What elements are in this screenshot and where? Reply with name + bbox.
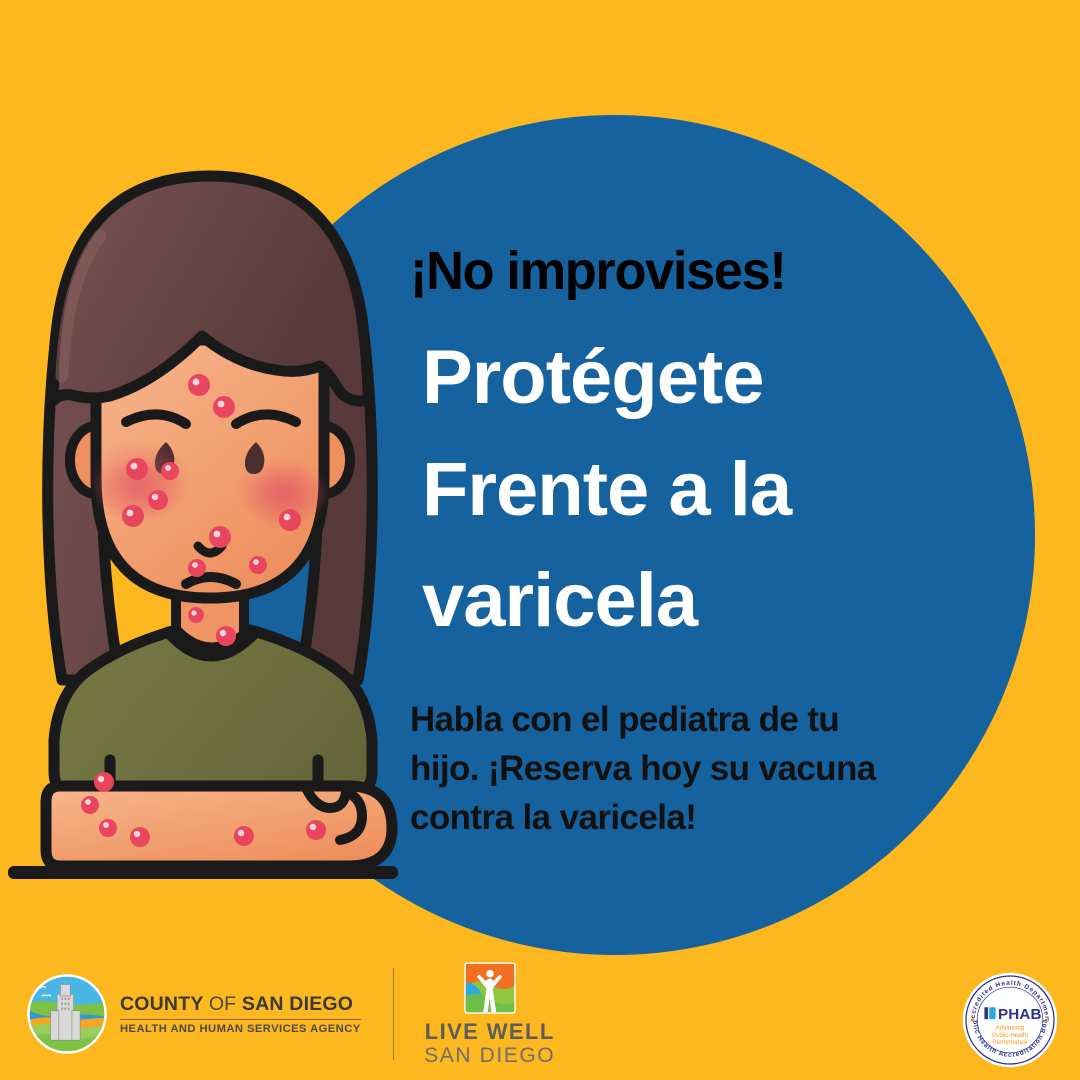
- headline-line-2: Frente a la: [422, 434, 904, 546]
- of-word: OF: [209, 993, 242, 1015]
- phab-tagline-2: Public Health: [992, 1032, 1028, 1039]
- phab-tagline-1: Advancing: [996, 1025, 1024, 1032]
- county-logo-text: COUNTY OF SAN DIEGO HEALTH AND HUMAN SER…: [120, 993, 361, 1036]
- sad-child-illustration: [0, 160, 420, 920]
- body-copy: Habla con el pediatra de tu hijo. ¡Reser…: [410, 695, 904, 842]
- live-well-line-2: SAN DIEGO: [424, 1044, 555, 1067]
- live-well-line-1: LIVE WELL: [425, 1020, 555, 1043]
- kicker-headline: ¡No improvises!: [410, 244, 889, 298]
- county-of-san-diego-logo: COUNTY OF SAN DIEGO HEALTH AND HUMAN SER…: [26, 973, 361, 1055]
- county-seal-icon: [26, 973, 108, 1055]
- phab-wordmark: PHAB: [998, 1006, 1042, 1023]
- body-line-2: hijo. ¡Reserva hoy su vacuna: [410, 744, 904, 793]
- phab-tagline-3: Performance: [993, 1039, 1028, 1046]
- county-agency-name: HEALTH AND HUMAN SERVICES AGENCY: [120, 1023, 361, 1035]
- body-line-1: Habla con el pediatra de tu: [410, 695, 904, 744]
- headline-line-3: varicela: [422, 545, 904, 657]
- san-diego-word: SAN DIEGO: [242, 993, 353, 1015]
- county-logo-rule: [120, 1019, 361, 1021]
- poster-canvas: ¡No improvises! Protégete Frente a la va…: [0, 0, 1080, 1080]
- footer-logo-group: COUNTY OF SAN DIEGO HEALTH AND HUMAN SER…: [26, 962, 555, 1066]
- headline-line-1: Protégete: [422, 322, 904, 434]
- logo-divider: [393, 968, 395, 1060]
- county-word: COUNTY: [120, 993, 209, 1015]
- county-name: COUNTY OF SAN DIEGO: [120, 993, 361, 1016]
- main-headline: Protégete Frente a la varicela: [422, 322, 904, 657]
- phab-accreditation-seal: Accredited Health Department Public Heal…: [962, 972, 1058, 1068]
- table-edge: [8, 866, 398, 879]
- live-well-mark-icon: [463, 961, 517, 1015]
- live-well-san-diego-logo: LIVE WELL SAN DIEGO: [424, 961, 555, 1066]
- message-block: ¡No improvises! Protégete Frente a la va…: [404, 244, 904, 842]
- body-line-3: contra la varicela!: [410, 793, 904, 842]
